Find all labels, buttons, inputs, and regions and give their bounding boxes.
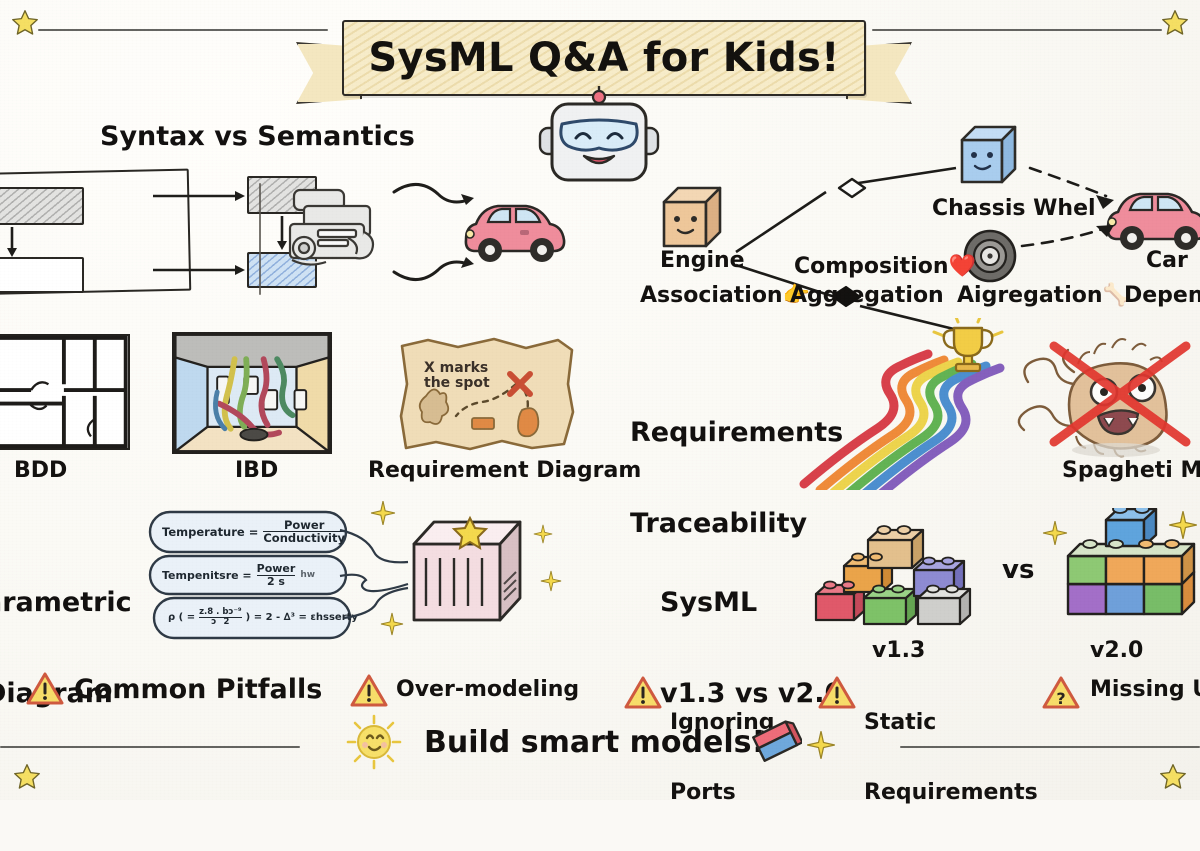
caption-requirement-diagram: Requirement Diagram — [368, 458, 641, 483]
footer-text: Build smart models! — [424, 725, 765, 760]
sun-smile-icon — [346, 714, 402, 770]
equation-1-lhs: Temperature = — [162, 525, 258, 539]
relation-label-composition: Composition❤️ — [794, 254, 976, 279]
page-title: SysML Q&A for Kids! — [368, 35, 839, 81]
heart-icon: ❤️ — [949, 254, 976, 279]
relation-label-dependency: Dependen — [1124, 283, 1200, 308]
pitfall-static-requirements-line1: Static — [864, 711, 1038, 734]
sparkle-icon — [1042, 520, 1068, 546]
eraser-icon — [750, 720, 802, 766]
equation-row-2: Tempenitsre = Power 2 s hw — [162, 563, 315, 587]
parametric-line1: arametric — [0, 588, 132, 618]
caption-v20: v2.0 — [1090, 638, 1143, 663]
relation-label-association: Association👉 — [640, 283, 810, 308]
caption-spaghetti-monster: Spagheti Monster — [1062, 458, 1200, 483]
banner-plate: SysML Q&A for Kids! — [342, 20, 866, 96]
sparkle-icon — [380, 612, 404, 636]
equation-3-denominator: ɔ ˉ2 — [211, 618, 229, 627]
star-icon — [1158, 762, 1188, 792]
equation-2-tail: hw — [300, 570, 315, 580]
section-divider — [259, 183, 261, 295]
node-label-engine: Engine — [660, 248, 745, 273]
pitfall-label-over-modeling: Over-modeling — [396, 678, 579, 701]
corner-rule-top-right — [872, 29, 1162, 31]
sparkle-icon — [370, 500, 396, 526]
warning-triangle-icon — [26, 672, 64, 706]
corner-rule-top-left — [38, 29, 328, 31]
rainbow-path-illustration — [790, 318, 1020, 490]
relation-label-aigregation-text: Aigregation — [957, 283, 1103, 308]
thumb-requirement-map: X marks the spot — [398, 336, 576, 452]
equation-2-numerator: Power — [257, 563, 296, 575]
relation-label-aggregation: Aggregation — [790, 283, 944, 308]
caption-v13: v1.3 — [872, 638, 925, 663]
equation-1-denominator: Conductivity — [263, 532, 345, 544]
sparkle-icon — [806, 730, 836, 760]
versions-vs-label: vs — [1002, 556, 1034, 585]
map-text-line1: X marks — [424, 360, 488, 376]
thumb-ibd-room — [172, 332, 332, 454]
sparkle-icon — [540, 570, 562, 592]
pitfall-ignoring-ports-line2: Ports — [670, 781, 775, 804]
pitfall-static-requirements-line2: Requirements — [864, 781, 1038, 804]
parametric-block-illustration — [400, 510, 532, 632]
car-illustration — [458, 184, 572, 268]
equation-row-1: Temperature = Power Conductivity — [162, 519, 345, 545]
pitfalls-title: Common Pitfalls — [74, 676, 322, 705]
equation-row-3: ρ ( = z.8 . bɔ⁻⁹ ɔ ˉ2 ) = 2 - ∆³ = ɛhsse… — [168, 608, 358, 627]
poster-canvas: SysML Q&A for Kids! Syntax vs Semantics — [0, 0, 1200, 800]
warning-triangle-icon — [818, 676, 856, 710]
equation-2-lhs: Tempenitsre = — [162, 569, 252, 582]
node-label-car: Car — [1146, 248, 1188, 273]
sparkle-icon — [533, 524, 553, 544]
equation-2-denominator: 2 s — [267, 576, 285, 588]
thumb-bdd-floorplan — [0, 334, 130, 450]
equation-3-numerator: z.8 . bɔ⁻⁹ — [199, 608, 242, 617]
section-heading-syntax-semantics: Syntax vs Semantics — [100, 122, 415, 152]
map-text-line2: the spot — [424, 375, 490, 391]
pitfall-label-missing-units: Missing Un — [1090, 678, 1200, 701]
warning-triangle-icon — [624, 676, 662, 710]
relation-label-association-text: Association — [640, 283, 783, 308]
equation-3-lhs: ρ ( = — [168, 612, 195, 623]
lego-pile-v13 — [812, 512, 990, 634]
warning-triangle-icon — [350, 674, 388, 708]
caption-ibd: IBD — [235, 458, 278, 483]
relation-label-composition-text: Composition — [794, 254, 949, 279]
question-triangle-icon: ? — [1042, 676, 1080, 710]
node-label-chassis: Chassis Whel — [932, 196, 1096, 221]
star-icon — [10, 8, 40, 38]
pitfall-label-static-requirements: Static Requirements — [864, 664, 1038, 851]
equation-1-numerator: Power — [284, 519, 324, 531]
engine-illustration — [278, 176, 398, 284]
caption-bdd: BDD — [14, 458, 67, 483]
star-icon — [1160, 8, 1190, 38]
svg-text:?: ? — [1056, 689, 1065, 708]
section-heading-parametric: arametric Diagram — [0, 528, 132, 770]
relation-label-aigregation: Aigregation🦴 — [957, 283, 1130, 308]
sparkle-icon — [1168, 510, 1198, 540]
spaghetti-monster-illustration — [1016, 326, 1198, 462]
